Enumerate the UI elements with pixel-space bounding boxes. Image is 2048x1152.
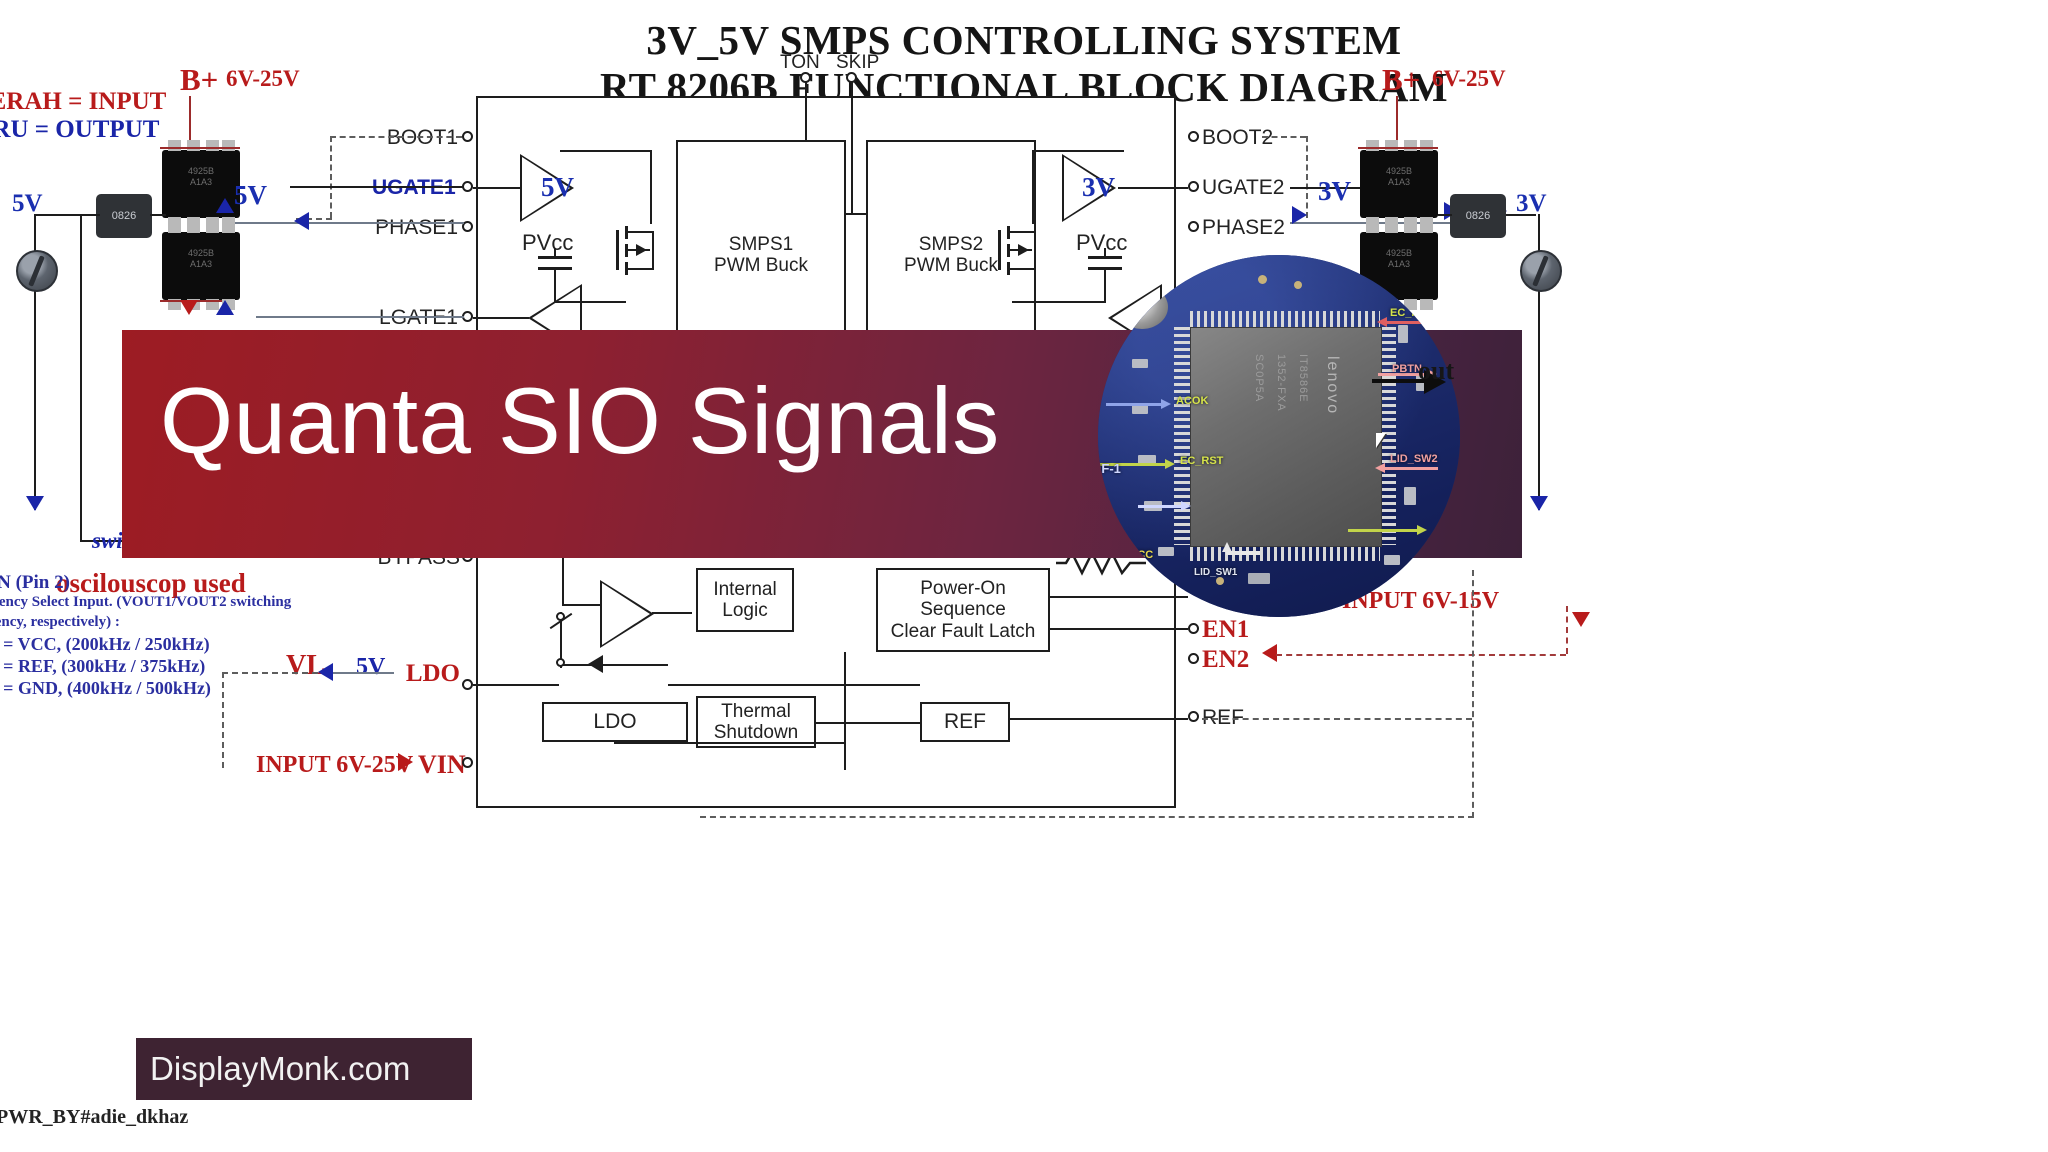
pcb-label-lid-sw2: LID_SW2 — [1390, 453, 1438, 465]
arrow-phase-up-left — [216, 198, 234, 213]
chip-pins-left — [1174, 327, 1190, 545]
pin-label-skip: SKIP — [836, 52, 879, 74]
vl-wire — [332, 672, 394, 674]
arrow-df1 — [1138, 505, 1182, 508]
rail-5v-label-near-pkg: 5V — [234, 180, 267, 211]
pin-phase2 — [1188, 221, 1199, 232]
en-dash-h — [1276, 654, 1566, 656]
arrow-en2 — [1262, 644, 1277, 662]
pin-label-ton: TON — [780, 52, 820, 74]
pin-label-ugate1: UGATE1 — [372, 176, 456, 200]
pin-label-phase2: PHASE2 — [1202, 216, 1285, 240]
inductor-left: 0826 — [96, 194, 152, 238]
diagram-title-line1: 3V_5V SMPS CONTROLLING SYSTEM — [0, 16, 2048, 64]
wire-bypass-h — [562, 604, 602, 606]
arrow-amp-in — [588, 655, 603, 673]
vin-input-label: INPUT 6V-25V — [256, 752, 413, 779]
lo-side-fet-package-left: 4925BA1A3 — [162, 232, 240, 300]
solder-pad — [1294, 281, 1302, 289]
block-ldo-label: LDO — [593, 710, 636, 734]
pin-label-lgate1: LGATE1 — [330, 306, 458, 330]
block-ref-label: REF — [944, 710, 986, 734]
smd-part — [1132, 359, 1148, 368]
arrow-vin — [398, 753, 413, 771]
pin-label-en2: EN2 — [1202, 646, 1249, 674]
arrow-gnd-left — [180, 300, 198, 315]
pin-label-ugate2: UGATE2 — [1202, 176, 1284, 200]
pin-ref — [1188, 711, 1199, 722]
pcb-label-ec-rt: EC_RT — [1390, 307, 1426, 319]
spec-line-4: TON = REF, (300kHz / 375kHz) — [0, 656, 205, 677]
block-power-line3: Clear Fault Latch — [891, 621, 1036, 642]
pin-vin — [462, 757, 473, 768]
pin-label-vin: VIN — [418, 750, 466, 780]
block-thermal-line2: Shutdown — [714, 722, 799, 743]
arrow-en-down — [1572, 612, 1590, 627]
wire-bypass-v — [562, 556, 564, 606]
wire-ref-out — [1010, 718, 1188, 720]
arrow-ec-rt — [1386, 321, 1430, 324]
pin-en2 — [1188, 653, 1199, 664]
ref-dash-h — [1202, 718, 1472, 720]
chip-marking-3: SC0P5A — [1253, 354, 1265, 402]
block-ldo: LDO — [542, 702, 688, 742]
arrow-acok — [1106, 403, 1162, 406]
arrow-phase1-left — [294, 212, 309, 230]
vl-dash — [222, 672, 318, 674]
legend-output: BIRU = OUTPUT — [0, 116, 159, 144]
block-smps2-line1: SMPS2 — [904, 234, 998, 255]
smd-part — [1404, 487, 1416, 505]
block-power-on-sequence: Power-On Sequence Clear Fault Latch — [876, 568, 1050, 652]
arrow-lid-sw2 — [1384, 467, 1438, 470]
smd-part — [1132, 405, 1148, 414]
feedback-left-v — [80, 214, 82, 540]
en-dash-v — [1566, 606, 1568, 654]
label-out: out — [1418, 356, 1454, 386]
author-credit: PWR_BY#adie_dkhaz — [0, 1106, 188, 1129]
pin-en1 — [1188, 623, 1199, 634]
switch-node-1 — [556, 612, 565, 621]
pcb-label-ec-rst: EC_RST — [1180, 455, 1223, 467]
mosfet-2-drain-h — [1032, 150, 1124, 152]
smd-part — [1248, 573, 1270, 584]
pvcc-cap-2-w — [1012, 301, 1106, 303]
driver-3v-label: 3V — [1082, 172, 1115, 203]
wire-drv1-in — [473, 187, 521, 189]
wire-thermal-ref — [816, 722, 922, 724]
pkg-left-top-rail — [160, 147, 240, 149]
pin-label-boot2: BOOT2 — [1202, 126, 1273, 150]
mouse-cursor — [1376, 433, 1386, 448]
block-smps1-line1: SMPS1 — [714, 234, 808, 255]
mosfet-1-drain-h — [560, 150, 652, 152]
pin-label-en1: EN1 — [1202, 616, 1249, 644]
arrow-3v-down-right — [1530, 496, 1548, 511]
smd-part — [1384, 555, 1400, 565]
vl-value: 5V — [356, 654, 385, 681]
pin-ldo — [462, 679, 473, 690]
ref-dash-v — [1472, 570, 1474, 818]
wire-power-en2 — [1050, 628, 1188, 630]
chip-brand: lenovo — [1323, 356, 1341, 415]
bplus-right-range: 6V-25V — [1432, 66, 1506, 92]
wire-amp-out — [652, 612, 692, 614]
pin-label-phase1: PHASE1 — [330, 216, 458, 240]
pvcc-cap-1-w — [554, 301, 626, 303]
bplus-left-label: B+ — [180, 62, 218, 98]
pvcc-cap-1-lead2 — [554, 267, 556, 303]
rail-3v-right: 3V — [1516, 190, 1547, 218]
arrow-5v-down-left — [26, 496, 44, 511]
pkg-right-top-rail — [1358, 147, 1438, 149]
chip-pins-bottom — [1190, 545, 1380, 561]
mosfet-2-drain — [1032, 150, 1034, 224]
banner-title: Quanta SIO Signals — [160, 374, 1000, 468]
pcb-photo-inset: lenovo IT8586E 1352-FXA SC0P5A ACOK EC_R… — [1098, 255, 1460, 617]
pcb-label-acok: ACOK — [1176, 395, 1208, 407]
block-power-line2: Sequence — [891, 599, 1036, 620]
arrow-lgate-up-left — [216, 300, 234, 315]
wire-skip — [851, 82, 853, 214]
arrow-vl — [318, 663, 333, 681]
block-internal-logic: Internal Logic — [696, 568, 794, 632]
watermark-text: DisplayMonk.com — [136, 1050, 410, 1088]
wire-amp-in2 — [560, 664, 668, 666]
driver-5v-label: 5V — [541, 172, 574, 203]
spec-line-0: TON (Pin 2) — [0, 572, 70, 594]
bplus-left-range: 6V-25V — [226, 66, 300, 92]
block-smps2-line2: PWM Buck — [904, 255, 998, 276]
mosfet-1-drain — [650, 150, 652, 224]
hi-side-fet-package-right: 4925BA1A3 — [1360, 150, 1438, 218]
pvcc-label-2: PVcc — [1076, 230, 1127, 256]
spec-line-5: TON = GND, (400kHz / 500kHz) — [0, 678, 211, 699]
wire-ldo — [473, 684, 559, 686]
ind-right-w1 — [1438, 214, 1452, 216]
chip-marking-2: 1352-FXA — [1275, 354, 1287, 412]
ind-left-w2 — [150, 214, 166, 216]
ec-chip: lenovo IT8586E 1352-FXA SC0P5A — [1190, 327, 1382, 547]
wire-bottom-bus — [614, 742, 844, 744]
pin-boot1 — [462, 131, 473, 142]
pcb-label-lid-sw1: LID_SW1 — [1194, 567, 1237, 578]
wire-drv1b-in — [473, 317, 529, 319]
rail-3v-label: 3V — [1318, 176, 1351, 207]
arrow-lid-sw1 — [1226, 551, 1260, 555]
bottom-dash — [700, 816, 1474, 818]
wire-ldo-bus — [668, 684, 920, 686]
watermark-badge: DisplayMonk.com — [136, 1038, 472, 1100]
switch-node-2 — [556, 658, 565, 667]
spec-line-2: frequency, respectively) : — [0, 614, 120, 631]
output-cap-left — [16, 250, 58, 292]
block-ref: REF — [920, 702, 1010, 742]
screenshot-root: 3V_5V SMPS CONTROLLING SYSTEM RT 8206B F… — [0, 0, 2048, 1152]
smd-part — [1158, 547, 1174, 556]
mosfet-2 — [998, 222, 1044, 278]
rail-5v-left-wire-h — [34, 214, 80, 216]
smd-part — [1398, 325, 1408, 343]
block-internal-line1: Internal — [713, 579, 776, 600]
pin-boot2 — [1188, 131, 1199, 142]
pin-ugate2 — [1188, 181, 1199, 192]
pvcc-cap-1-lead — [554, 248, 556, 258]
wire-drv2-out — [1118, 187, 1188, 189]
block-thermal-line1: Thermal — [714, 701, 799, 722]
wire-ugate1 — [290, 186, 464, 188]
pin-label-boot1: BOOT1 — [330, 126, 458, 150]
block-smps1-line2: PWM Buck — [714, 255, 808, 276]
inductor-right: 0826 — [1450, 194, 1506, 238]
smps-block-diagram: 3V_5V SMPS CONTROLLING SYSTEM RT 8206B F… — [0, 0, 2048, 1152]
spec-line-3: TON = VCC, (200kHz / 250kHz) — [0, 634, 210, 655]
bypass-amp — [600, 580, 654, 648]
arrow-lid — [1348, 529, 1418, 532]
block-thermal-shutdown: Thermal Shutdown — [696, 696, 816, 748]
wire-boot2 — [1262, 136, 1306, 138]
block-power-line1: Power-On — [891, 578, 1036, 599]
wire-boot1-v — [330, 136, 332, 218]
arrow-phase2-right — [1292, 206, 1307, 224]
pcb-label-vcc: VCC — [1130, 549, 1153, 561]
solder-pad — [1216, 577, 1224, 585]
wire-center-v — [844, 652, 846, 770]
pcb-label-df1: DF-1 — [1098, 461, 1121, 476]
chip-marking-1: IT8586E — [1297, 354, 1309, 403]
chip-pins-top — [1190, 311, 1380, 327]
legend-input: MERAH = INPUT — [0, 88, 166, 116]
output-cap-right — [1520, 250, 1562, 292]
vl-dash-v — [222, 672, 224, 768]
bplus-right-label: B+ — [1382, 62, 1420, 98]
wire-lgate1 — [256, 316, 464, 318]
chip-markings: lenovo IT8586E 1352-FXA SC0P5A — [1191, 328, 1381, 546]
wire-phase1 — [228, 222, 464, 224]
solder-pad — [1258, 275, 1267, 284]
block-internal-line2: Logic — [713, 600, 776, 621]
wire-boot1 — [330, 136, 462, 138]
spec-line-1: Frequency Select Input. (VOUT1/VOUT2 swi… — [0, 594, 291, 611]
mosfet-1 — [616, 222, 662, 278]
pcb-cylindrical-component — [1116, 285, 1168, 329]
pvcc-label-1: PVcc — [522, 230, 573, 256]
